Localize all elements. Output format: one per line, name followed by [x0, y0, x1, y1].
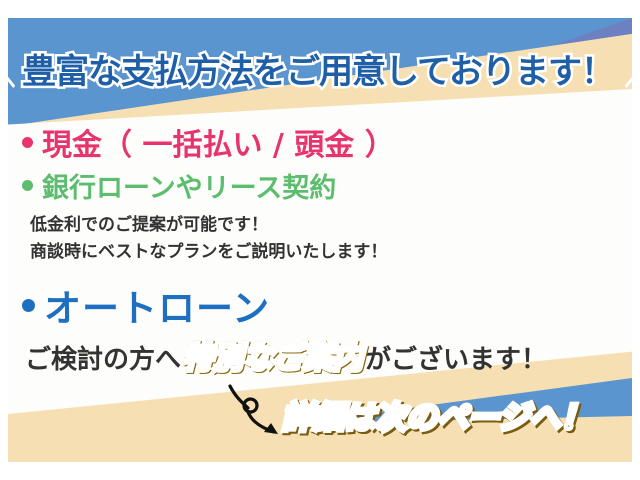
- list-item: オートローン: [22, 278, 270, 332]
- emphasis-tail: がございます！: [365, 339, 547, 376]
- page-title: 豊富な支払方法をご用意しております！: [22, 44, 614, 93]
- poster-content: ＼ 豊富な支払方法をご用意しております！ ／ 現金（ 一括払い / 頭金 ） 銀…: [0, 0, 640, 480]
- next-page-callout: 詳細は次のページへ！: [282, 392, 591, 437]
- promo-poster: ＼ 豊富な支払方法をご用意しております！ ／ 現金（ 一括払い / 頭金 ） 銀…: [0, 0, 640, 480]
- bullet-dot-icon: [22, 299, 35, 312]
- right-slash-icon: ／: [624, 47, 640, 91]
- emphasis-lead: ご検討の方へ: [25, 339, 181, 376]
- emphasis-line: ご検討の方へ 特別なご案内 がございます！: [25, 333, 547, 377]
- list-item: 銀行ローンやリース契約: [22, 166, 336, 205]
- list-item-label: オートローン: [44, 278, 270, 332]
- bullet-dot-icon: [22, 137, 33, 148]
- left-slash-icon: ＼: [0, 47, 16, 91]
- list-item-label: 銀行ローンやリース契約: [42, 166, 336, 205]
- subtext-line-2: 商談時にベストなプランをご説明いたします！: [30, 237, 387, 262]
- list-item-label: 現金（ 一括払い / 頭金 ）: [42, 120, 395, 164]
- headline-row: ＼ 豊富な支払方法をご用意しております！ ／: [0, 44, 640, 93]
- bullet-dot-icon: [22, 180, 33, 191]
- emphasis-highlight: 特別なご案内: [181, 333, 365, 377]
- list-item: 現金（ 一括払い / 頭金 ）: [22, 120, 395, 164]
- subtext-line-1: 低金利でのご提案が可能です！: [30, 210, 268, 235]
